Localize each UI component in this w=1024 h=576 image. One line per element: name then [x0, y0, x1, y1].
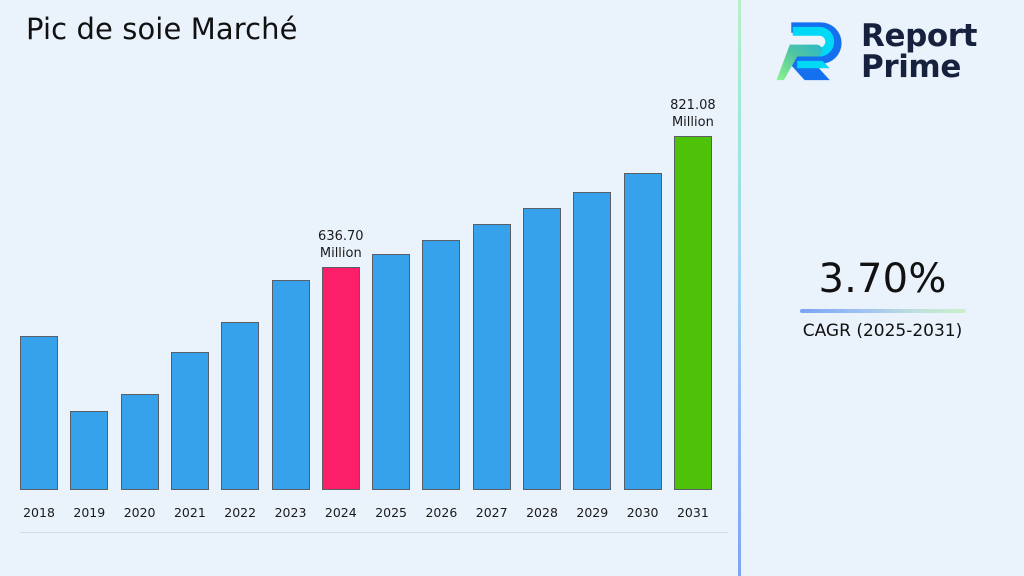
- bar-2029[interactable]: [573, 192, 611, 490]
- x-axis-tick-2019: 2019: [73, 505, 105, 520]
- report-prime-logo-mark: [775, 15, 849, 89]
- bar-group-2020: 2020: [121, 394, 159, 490]
- x-axis-tick-2022: 2022: [224, 505, 256, 520]
- bar-group-2025: 2025: [372, 254, 410, 490]
- x-axis-tick-2026: 2026: [425, 505, 457, 520]
- bar-group-2026: 2026: [422, 240, 460, 490]
- bar-group-2022: 2022: [221, 322, 259, 490]
- bar-group-2024: 636.70Million2024: [322, 267, 360, 490]
- x-axis-tick-2029: 2029: [576, 505, 608, 520]
- x-axis-tick-2027: 2027: [476, 505, 508, 520]
- bar-chart: 201820192020202120222023636.70Million202…: [0, 0, 738, 534]
- bar-value-label-amount-2024: 636.70: [318, 228, 364, 245]
- bar-2028[interactable]: [523, 208, 561, 490]
- cagr-divider-rule: [800, 309, 966, 313]
- bar-group-2023: 2023: [272, 280, 310, 490]
- brand-logo: Report Prime: [775, 12, 1011, 92]
- x-axis-tick-2024: 2024: [325, 505, 357, 520]
- bar-value-label-unit-2024: Million: [318, 245, 364, 262]
- bar-group-2021: 2021: [171, 352, 209, 490]
- bar-value-label-unit-2031: Million: [670, 114, 716, 131]
- x-axis-tick-2031: 2031: [677, 505, 709, 520]
- cagr-caption: CAGR (2025-2031): [741, 320, 1024, 342]
- brand-line-2: Prime: [861, 52, 977, 83]
- bar-group-2027: 2027: [473, 224, 511, 490]
- brand-line-1: Report: [861, 21, 977, 52]
- bar-2024[interactable]: [322, 267, 360, 490]
- bar-group-2028: 2028: [523, 208, 561, 490]
- chart-panel: Pic de soie Marché 201820192020202120222…: [0, 0, 738, 576]
- bar-2021[interactable]: [171, 352, 209, 490]
- bar-2027[interactable]: [473, 224, 511, 490]
- bar-value-label-2024: 636.70Million: [318, 228, 364, 262]
- brand-wordmark: Report Prime: [861, 21, 977, 83]
- x-axis-tick-2028: 2028: [526, 505, 558, 520]
- cagr-value: 3.70%: [741, 255, 1024, 303]
- x-axis-tick-2023: 2023: [275, 505, 307, 520]
- bar-2031[interactable]: [674, 136, 712, 490]
- right-panel: Report Prime 3.70% CAGR (2025-2031): [741, 0, 1024, 576]
- bar-group-2031: 821.08Million2031: [674, 136, 712, 490]
- bar-group-2029: 2029: [573, 192, 611, 490]
- x-axis-tick-2020: 2020: [124, 505, 156, 520]
- bar-2022[interactable]: [221, 322, 259, 490]
- bar-value-label-2031: 821.08Million: [670, 97, 716, 131]
- bar-group-2018: 2018: [20, 336, 58, 490]
- x-axis-tick-2018: 2018: [23, 505, 55, 520]
- bar-2025[interactable]: [372, 254, 410, 490]
- x-axis-tick-2021: 2021: [174, 505, 206, 520]
- bar-2020[interactable]: [121, 394, 159, 490]
- bar-group-2019: 2019: [70, 411, 108, 490]
- bar-2018[interactable]: [20, 336, 58, 490]
- bar-2026[interactable]: [422, 240, 460, 490]
- bar-2023[interactable]: [272, 280, 310, 490]
- x-axis-line: [20, 532, 728, 533]
- cagr-block: 3.70% CAGR (2025-2031): [741, 255, 1024, 342]
- bar-value-label-amount-2031: 821.08: [670, 97, 716, 114]
- screenshot-root: Pic de soie Marché 201820192020202120222…: [0, 0, 1024, 576]
- x-axis-tick-2025: 2025: [375, 505, 407, 520]
- bar-2019[interactable]: [70, 411, 108, 490]
- bar-group-2030: 2030: [624, 173, 662, 490]
- bar-2030[interactable]: [624, 173, 662, 490]
- x-axis-tick-2030: 2030: [627, 505, 659, 520]
